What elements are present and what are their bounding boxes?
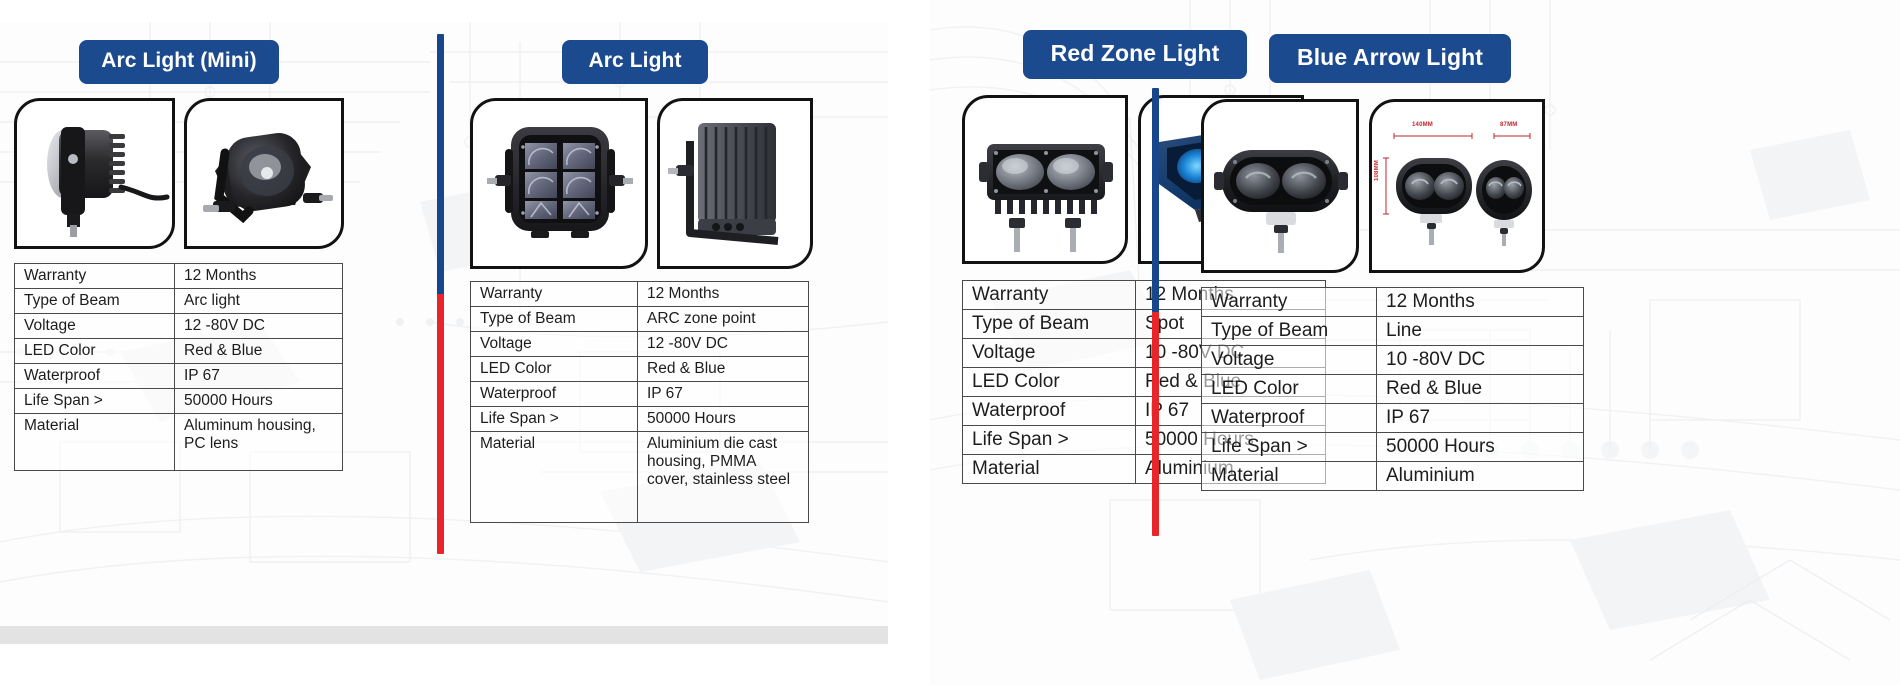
arc-light-front-illustration-icon bbox=[473, 101, 645, 266]
divider-red-segment bbox=[1152, 312, 1159, 536]
table-row: Waterproof IP 67 bbox=[1202, 404, 1584, 433]
spec-key: Material bbox=[15, 413, 175, 470]
table-row: LED Color Red & Blue bbox=[15, 338, 343, 363]
spec-key: Waterproof bbox=[15, 363, 175, 388]
photo-row-arc-light-mini bbox=[14, 98, 344, 249]
photo-blue-arrow-light-front-view bbox=[1201, 99, 1359, 273]
spec-key: LED Color bbox=[963, 368, 1136, 397]
spec-key: Waterproof bbox=[963, 397, 1136, 426]
table-row: Type of Beam Line bbox=[1202, 317, 1584, 346]
panel-blue-arrow-light: Blue Arrow Light bbox=[1185, 0, 1605, 491]
spec-value: 50000 Hours bbox=[638, 406, 809, 431]
spec-value: Aluminum housing, PC lens bbox=[175, 413, 343, 470]
spec-value: 12 -80V DC bbox=[175, 313, 343, 338]
panel-arc-light-mini: Arc Light (Mini) bbox=[14, 22, 344, 471]
spec-value: Arc light bbox=[175, 288, 343, 313]
spec-table-arc-light: Warranty 12 Months Type of Beam ARC zone… bbox=[470, 281, 809, 523]
panel-title-arc-light: Arc Light bbox=[562, 40, 707, 84]
table-row: Warranty 12 Months bbox=[471, 282, 809, 307]
table-row: Warranty 12 Months bbox=[15, 264, 343, 289]
spec-key: Type of Beam bbox=[963, 310, 1136, 339]
table-row: Warranty 12 Months bbox=[1202, 288, 1584, 317]
photo-blue-arrow-light-dimension-view: 140MM 87MM 108MM bbox=[1369, 99, 1545, 273]
photo-row-arc-light bbox=[470, 98, 870, 269]
spec-key: LED Color bbox=[15, 338, 175, 363]
spec-key: Warranty bbox=[471, 282, 638, 307]
spec-key: LED Color bbox=[1202, 375, 1377, 404]
table-row: Material Aluminium die cast housing, PMM… bbox=[471, 431, 809, 522]
spec-key: Life Span > bbox=[471, 406, 638, 431]
arc-light-mini-front-illustration-icon bbox=[187, 101, 345, 246]
spec-value: 12 Months bbox=[1377, 288, 1584, 317]
table-row: Voltage 12 -80V DC bbox=[471, 331, 809, 356]
spec-key: Type of Beam bbox=[15, 288, 175, 313]
spec-key: Voltage bbox=[963, 339, 1136, 368]
table-row: LED Color Red & Blue bbox=[471, 356, 809, 381]
spec-key: Material bbox=[1202, 462, 1377, 491]
spec-value: 10 -80V DC bbox=[1377, 346, 1584, 375]
panel-divider-left bbox=[437, 34, 444, 554]
spec-value: ARC zone point bbox=[638, 306, 809, 331]
spec-key: LED Color bbox=[471, 356, 638, 381]
spec-value: IP 67 bbox=[1377, 404, 1584, 433]
spec-value: 50000 Hours bbox=[175, 388, 343, 413]
table-row: LED Color Red & Blue bbox=[1202, 375, 1584, 404]
table-row: Waterproof IP 67 bbox=[15, 363, 343, 388]
arc-light-rear-illustration-icon bbox=[660, 101, 810, 266]
table-row: Material Aluminum housing, PC lens bbox=[15, 413, 343, 470]
table-row: Type of Beam ARC zone point bbox=[471, 306, 809, 331]
photo-arc-light-rear-heatsink-view bbox=[657, 98, 813, 269]
panel-title-arc-light-mini: Arc Light (Mini) bbox=[79, 40, 279, 84]
table-row: Voltage 12 -80V DC bbox=[15, 313, 343, 338]
spec-key: Warranty bbox=[15, 264, 175, 289]
spec-key: Waterproof bbox=[1202, 404, 1377, 433]
spec-key: Type of Beam bbox=[471, 306, 638, 331]
table-row: Voltage 10 -80V DC bbox=[1202, 346, 1584, 375]
spec-key: Voltage bbox=[15, 313, 175, 338]
photo-red-zone-light-front-view bbox=[962, 95, 1128, 264]
dimension-label-width: 140MM bbox=[1412, 122, 1433, 128]
spec-value: IP 67 bbox=[638, 381, 809, 406]
left-card-bottom-strip bbox=[0, 626, 888, 644]
spec-value: 12 Months bbox=[175, 264, 343, 289]
arc-light-mini-side-illustration-icon bbox=[17, 101, 175, 246]
table-row: Waterproof IP 67 bbox=[471, 381, 809, 406]
spec-value: IP 67 bbox=[175, 363, 343, 388]
spec-value: Aluminium bbox=[1377, 462, 1584, 491]
spec-value: Aluminium die cast housing, PMMA cover, … bbox=[638, 431, 809, 522]
spec-key: Waterproof bbox=[471, 381, 638, 406]
spec-value: Red & Blue bbox=[175, 338, 343, 363]
photo-arc-light-mini-front-angle-view bbox=[184, 98, 345, 249]
spec-key: Voltage bbox=[1202, 346, 1377, 375]
spec-value: Red & Blue bbox=[1377, 375, 1584, 404]
spec-key: Material bbox=[471, 431, 638, 522]
divider-blue-segment bbox=[1152, 88, 1159, 312]
table-row: Material Aluminium bbox=[1202, 462, 1584, 491]
panel-arc-light: Arc Light bbox=[470, 22, 870, 523]
spec-value: Line bbox=[1377, 317, 1584, 346]
spec-value: 12 Months bbox=[638, 282, 809, 307]
left-product-group: Arc Light (Mini) bbox=[0, 22, 888, 644]
spec-value: Red & Blue bbox=[638, 356, 809, 381]
spec-key: Life Span > bbox=[15, 388, 175, 413]
spec-key: Warranty bbox=[963, 281, 1136, 310]
spec-key: Material bbox=[963, 455, 1136, 484]
spec-key: Life Span > bbox=[1202, 433, 1377, 462]
dimension-label-depth: 87MM bbox=[1500, 122, 1517, 128]
spec-key: Life Span > bbox=[963, 426, 1136, 455]
table-row: Type of Beam Arc light bbox=[15, 288, 343, 313]
spec-sheet: Arc Light (Mini) bbox=[0, 0, 1900, 685]
spec-table-arc-light-mini: Warranty 12 Months Type of Beam Arc ligh… bbox=[14, 263, 343, 471]
photo-row-blue-arrow-light: 140MM 87MM 108MM bbox=[1201, 99, 1605, 273]
right-product-group: Red Zone Light bbox=[930, 0, 1900, 685]
table-row: Life Span > 50000 Hours bbox=[1202, 433, 1584, 462]
photo-arc-light-mini-side-view bbox=[14, 98, 175, 249]
blue-arrow-light-front-illustration-icon bbox=[1204, 102, 1356, 270]
spec-key: Warranty bbox=[1202, 288, 1377, 317]
panel-divider-right bbox=[1152, 88, 1159, 536]
red-zone-light-front-illustration-icon bbox=[965, 98, 1125, 261]
spec-value: 50000 Hours bbox=[1377, 433, 1584, 462]
spec-table-blue-arrow-light: Warranty 12 Months Type of Beam Line Vol… bbox=[1201, 287, 1584, 491]
table-row: Life Span > 50000 Hours bbox=[15, 388, 343, 413]
photo-arc-light-front-view bbox=[470, 98, 648, 269]
panel-title-blue-arrow-light: Blue Arrow Light bbox=[1269, 34, 1511, 83]
spec-key: Voltage bbox=[471, 331, 638, 356]
divider-blue-segment bbox=[437, 34, 444, 294]
spec-key: Type of Beam bbox=[1202, 317, 1377, 346]
dimension-label-height: 108MM bbox=[1374, 160, 1380, 181]
table-row: Life Span > 50000 Hours bbox=[471, 406, 809, 431]
divider-red-segment bbox=[437, 294, 444, 554]
spec-value: 12 -80V DC bbox=[638, 331, 809, 356]
